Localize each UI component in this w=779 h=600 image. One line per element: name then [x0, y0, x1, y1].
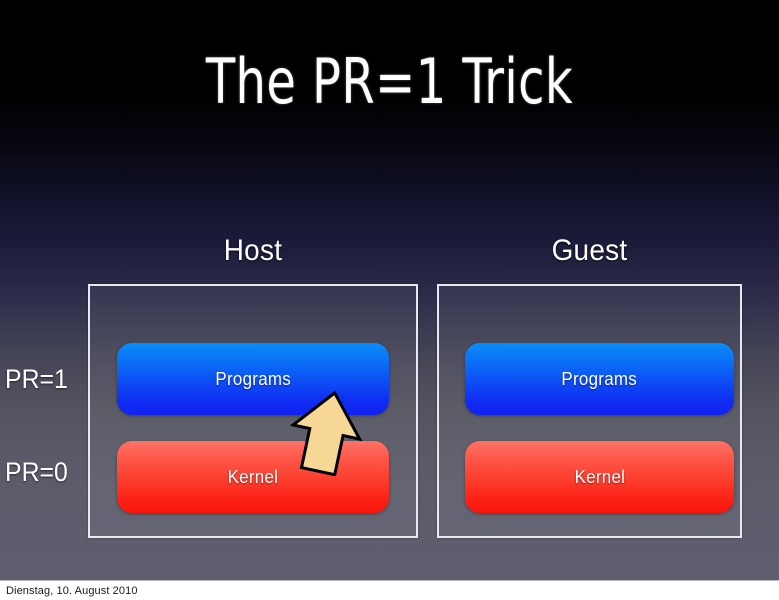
slide-canvas: The PR=1 Trick Host Guest PR=1 PR=0 Prog… — [0, 0, 779, 580]
host-programs-label: Programs — [215, 369, 291, 390]
column-heading-guest: Guest — [448, 233, 732, 269]
footer-date: Dienstag, 10. August 2010 — [6, 584, 138, 598]
host-kernel-label: Kernel — [228, 467, 279, 488]
privilege-label-pr1: PR=1 — [5, 363, 79, 395]
footer-bar: Dienstag, 10. August 2010 — [0, 580, 779, 600]
guest-programs-label: Programs — [562, 369, 638, 390]
host-kernel-box: Kernel — [117, 441, 389, 513]
guest-kernel-box: Kernel — [465, 441, 734, 513]
privilege-label-pr0: PR=0 — [5, 456, 79, 488]
host-programs-box: Programs — [117, 343, 389, 415]
presentation-screen: The PR=1 Trick Host Guest PR=1 PR=0 Prog… — [0, 0, 779, 600]
page-title: The PR=1 Trick — [55, 47, 725, 117]
column-heading-host: Host — [100, 233, 407, 269]
guest-kernel-label: Kernel — [574, 467, 625, 488]
guest-programs-box: Programs — [465, 343, 734, 415]
